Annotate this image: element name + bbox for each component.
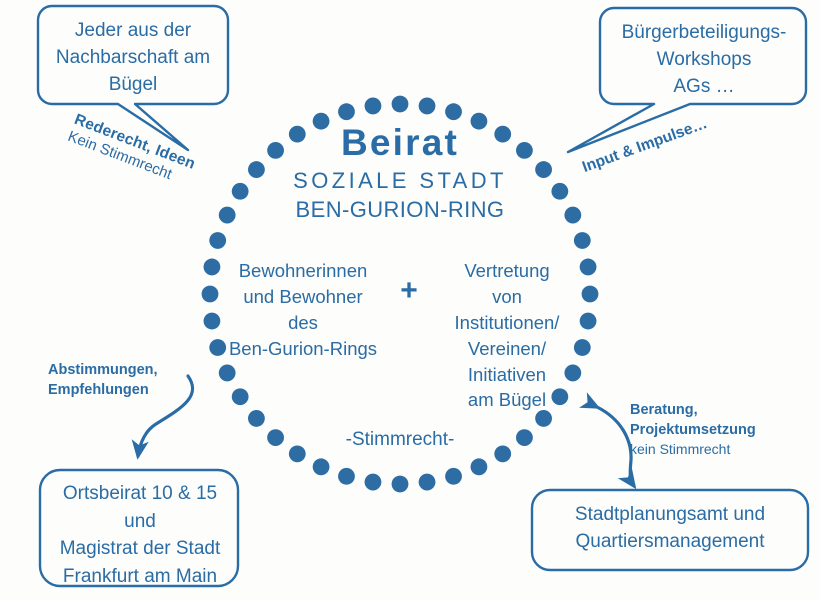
ring-dot	[516, 429, 533, 446]
ring-dot	[313, 458, 330, 475]
speech-bubble-top-left	[38, 6, 228, 150]
ring-dot	[516, 142, 533, 159]
ring-dot	[365, 474, 382, 491]
speech-bubble-top-right	[568, 8, 806, 152]
ring-dot	[365, 98, 382, 115]
arrow-beratung	[597, 407, 634, 486]
ring-dot	[232, 388, 249, 405]
box-bottom-right	[532, 490, 808, 570]
ring-dot	[219, 207, 236, 224]
ring-dot	[445, 103, 462, 120]
box-bottom-left	[40, 470, 238, 586]
ring-dot	[232, 183, 249, 200]
ring-dot	[289, 126, 306, 143]
ring-dot	[204, 313, 221, 330]
ring-dot	[202, 286, 219, 303]
ring-dot	[535, 161, 552, 178]
ring-dot	[471, 113, 488, 130]
ring-dot	[392, 476, 409, 493]
ring-dot	[313, 113, 330, 130]
ring-dot	[419, 474, 436, 491]
ring-dot	[564, 207, 581, 224]
ring-dot	[338, 468, 355, 485]
ring-dot	[535, 410, 552, 427]
ring-dot	[551, 183, 568, 200]
ring-dot	[494, 445, 511, 462]
ring-dot	[267, 142, 284, 159]
ring-dot	[209, 232, 226, 249]
ring-dot	[289, 445, 306, 462]
ring-dot	[209, 339, 226, 356]
ring-dot	[494, 126, 511, 143]
ring-dot	[445, 468, 462, 485]
ring-dot	[580, 259, 597, 276]
arrow-abstimmungen	[138, 376, 193, 456]
ring-dot	[582, 286, 599, 303]
ring-dot	[248, 161, 265, 178]
diagram-canvas: Beirat SOZIALE STADT BEN-GURION-RING Bew…	[0, 0, 820, 600]
ring-dot	[419, 98, 436, 115]
ring-dot	[580, 313, 597, 330]
ring-dot	[392, 96, 409, 113]
ring-dot	[204, 259, 221, 276]
ring-dot	[219, 365, 236, 382]
ring-dot	[551, 388, 568, 405]
ring-dot	[471, 458, 488, 475]
ring-dot	[338, 103, 355, 120]
ring-dot	[267, 429, 284, 446]
ring-dot	[564, 365, 581, 382]
diagram-artwork	[0, 0, 820, 600]
ring-dot	[574, 339, 591, 356]
ring-dot	[248, 410, 265, 427]
ring-dot	[574, 232, 591, 249]
dotted-ring	[202, 96, 599, 493]
